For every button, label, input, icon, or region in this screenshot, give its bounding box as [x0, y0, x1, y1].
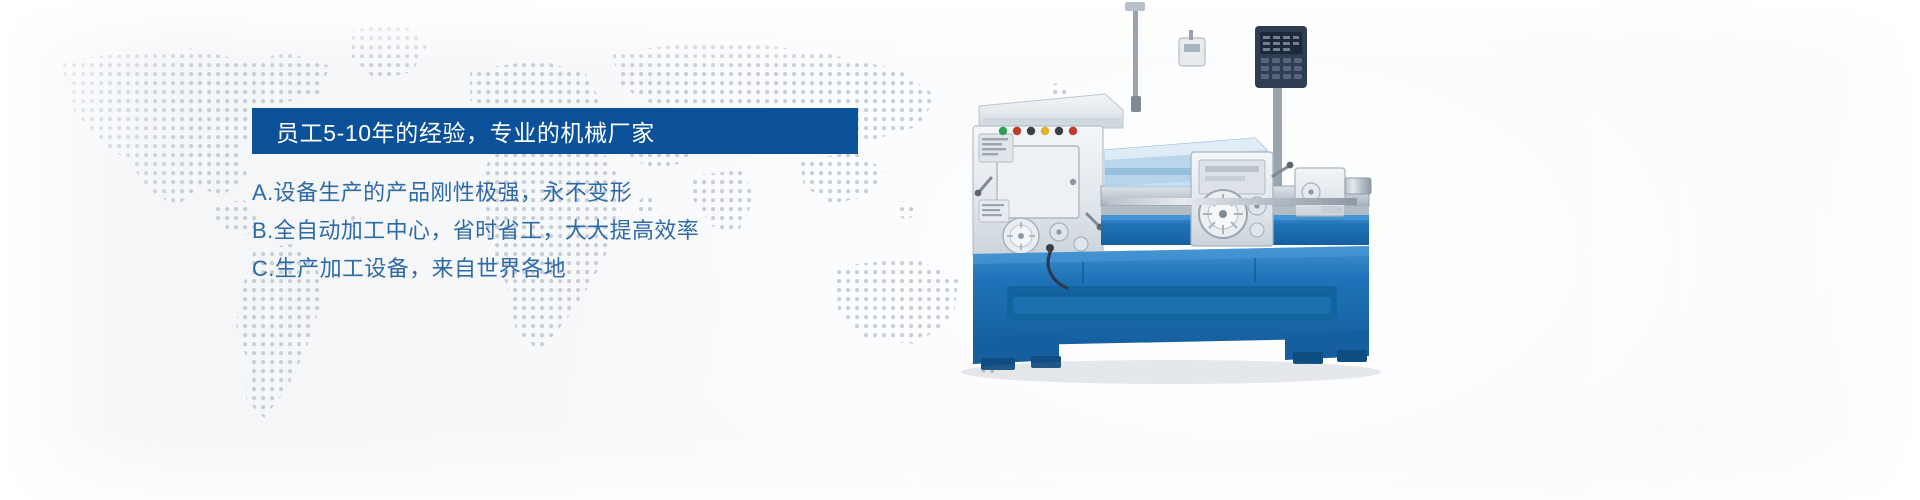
- promo-banner: 员工5-10年的经验，专业的机械厂家 A.设备生产的产品刚性极强，永不变形 B.…: [0, 0, 1920, 500]
- bullet-item-b: B.全自动加工中心，省时省工，大大提高效率: [252, 218, 1012, 245]
- bullet-list: A.设备生产的产品刚性极强，永不变形 B.全自动加工中心，省时省工，大大提高效率…: [252, 180, 1012, 282]
- headline-text: 员工5-10年的经验，专业的机械厂家: [276, 114, 655, 148]
- headline-bar: 员工5-10年的经验，专业的机械厂家: [252, 108, 858, 154]
- banner-text-block: 员工5-10年的经验，专业的机械厂家 A.设备生产的产品刚性极强，永不变形 B.…: [252, 108, 1012, 282]
- bullet-item-c: C.生产加工设备，来自世界各地: [252, 256, 1012, 283]
- right-fade-overlay: [1500, 0, 1920, 500]
- bullet-item-a: A.设备生产的产品刚性极强，永不变形: [252, 180, 1012, 207]
- lathe-machine-image: [955, 0, 1475, 400]
